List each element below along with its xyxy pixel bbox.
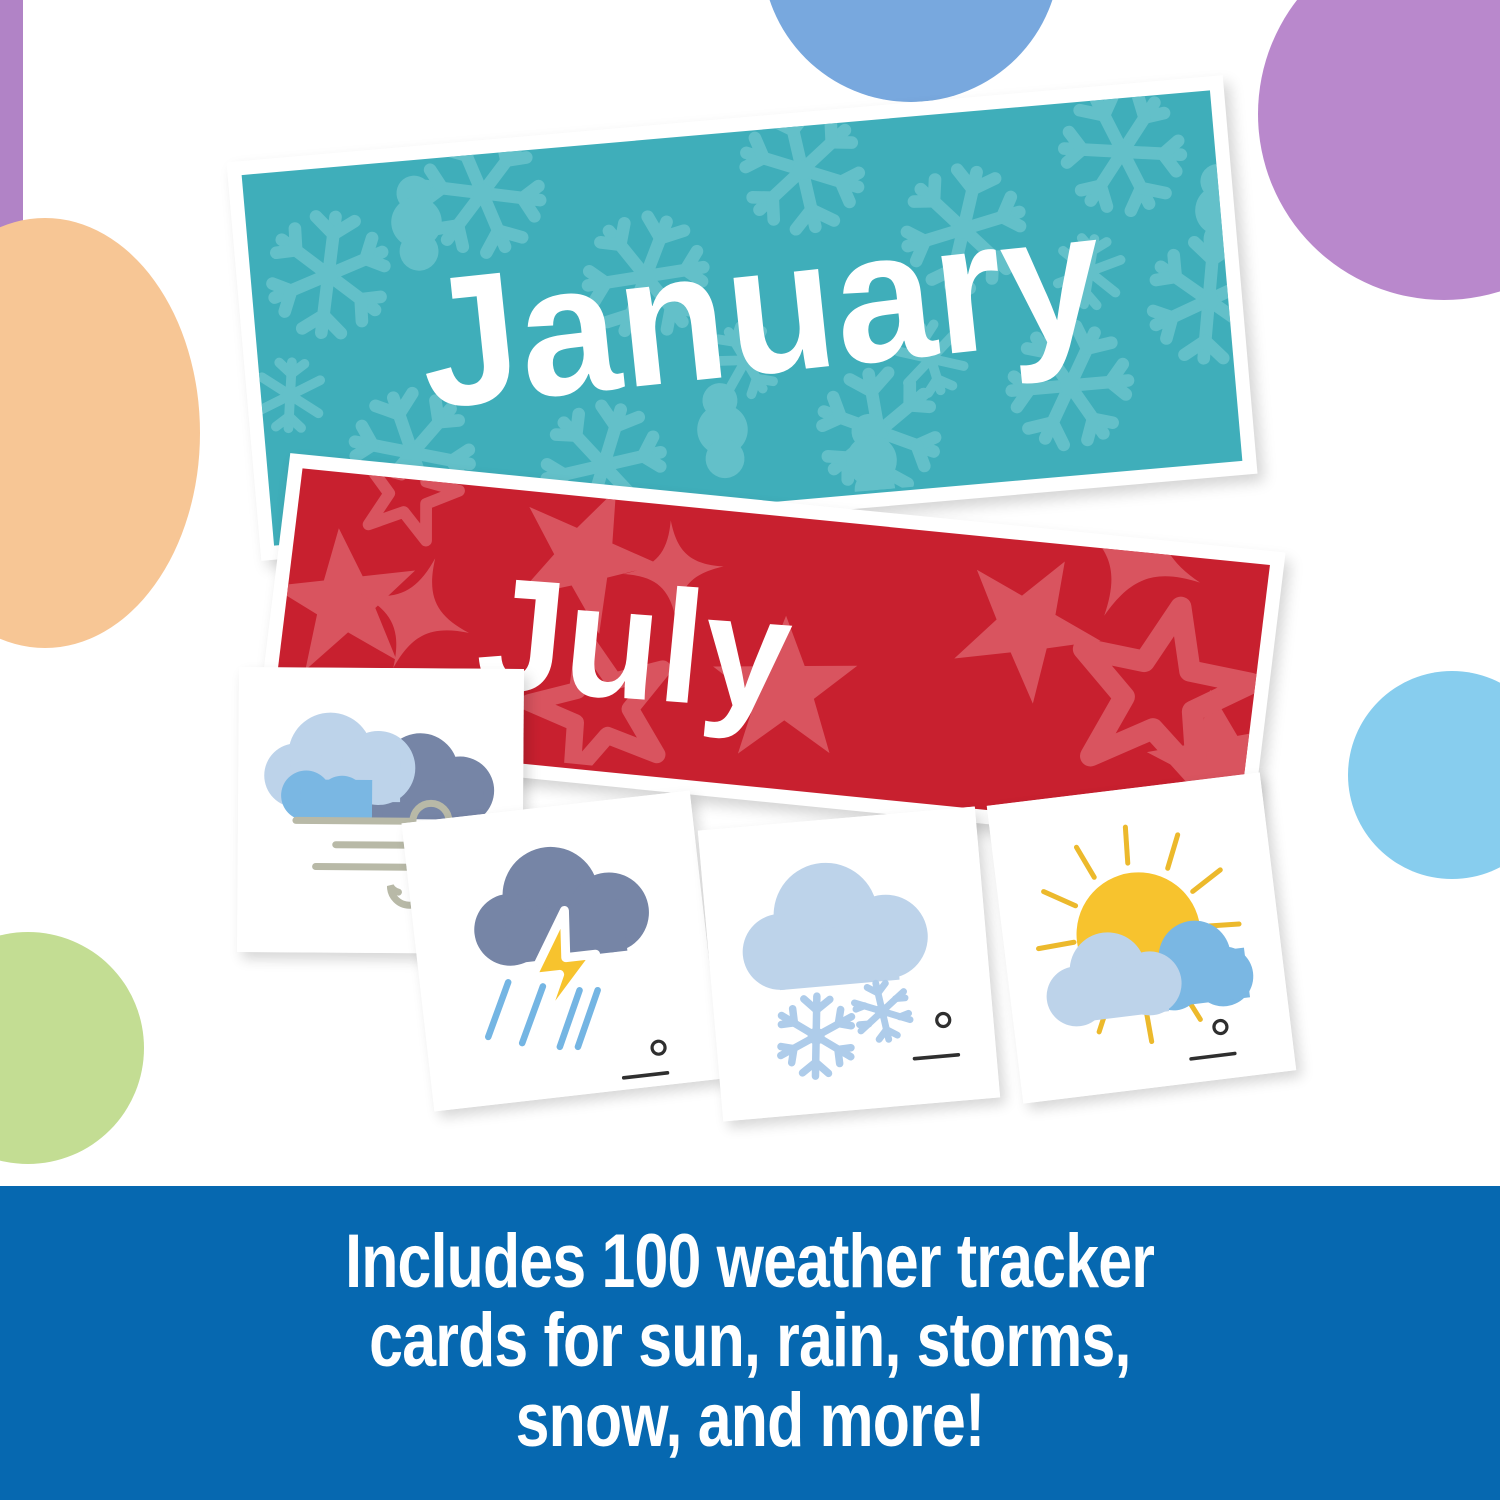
partly-sunny-icon — [987, 772, 1297, 1103]
blue-circle-top — [762, 0, 1060, 102]
weather-card-snow[interactable] — [698, 806, 1000, 1121]
weather-card-storm[interactable] — [402, 791, 723, 1112]
promo-banner: Includes 100 weather tracker cards for s… — [0, 1186, 1500, 1500]
orange-circle-left — [0, 218, 200, 648]
green-circle-bottom-left — [0, 932, 144, 1164]
product-promo-image: January — [0, 0, 1500, 1500]
lightblue-circle-right — [1348, 671, 1500, 879]
promo-line-3: snow, and more! — [516, 1381, 985, 1460]
promo-line-2: cards for sun, rain, storms, — [369, 1301, 1130, 1380]
purple-circle-top-right — [1258, 0, 1500, 300]
thunderstorm-icon — [402, 791, 723, 1112]
weather-card-sun[interactable] — [987, 772, 1297, 1103]
promo-line-1: Includes 100 weather tracker — [346, 1222, 1155, 1301]
snow-icon — [698, 806, 1000, 1121]
